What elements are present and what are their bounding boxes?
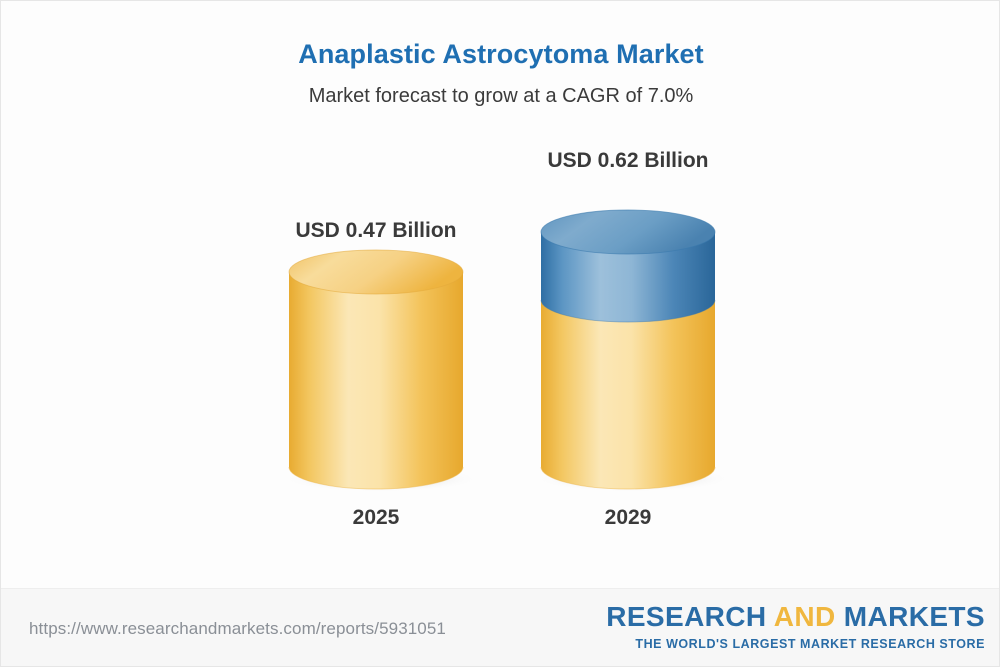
logo-word-and: AND bbox=[774, 601, 836, 632]
logo-tagline: THE WORLD'S LARGEST MARKET RESEARCH STOR… bbox=[606, 636, 985, 652]
bar-group-2025: USD 0.47 Billion bbox=[261, 216, 491, 531]
cylinder-2029 bbox=[513, 176, 743, 491]
cylinder-2029-graphic bbox=[513, 176, 743, 491]
bar-value-label-2029: USD 0.62 Billion bbox=[513, 146, 743, 176]
cylinder-2025-graphic bbox=[261, 246, 491, 491]
bar-category-label-2025: 2025 bbox=[261, 505, 491, 531]
bar-category-label-2029: 2029 bbox=[513, 505, 743, 531]
bar-group-2029: USD 0.62 Billion bbox=[513, 146, 743, 531]
footer-bar: https://www.researchandmarkets.com/repor… bbox=[1, 588, 1000, 666]
logo-wordmark: RESEARCH AND MARKETS bbox=[606, 601, 985, 633]
chart-plot-area: USD 0.47 Billion bbox=[1, 1, 1000, 601]
cylinder-2025 bbox=[261, 246, 491, 491]
infographic-canvas: Anaplastic Astrocytoma Market Market for… bbox=[0, 0, 1000, 667]
report-url[interactable]: https://www.researchandmarkets.com/repor… bbox=[29, 619, 446, 639]
logo-word-research: RESEARCH bbox=[606, 601, 773, 632]
bar-value-label-2025: USD 0.47 Billion bbox=[261, 216, 491, 246]
logo-word-markets: MARKETS bbox=[836, 601, 985, 632]
research-and-markets-logo[interactable]: RESEARCH AND MARKETS THE WORLD'S LARGEST… bbox=[606, 601, 985, 652]
